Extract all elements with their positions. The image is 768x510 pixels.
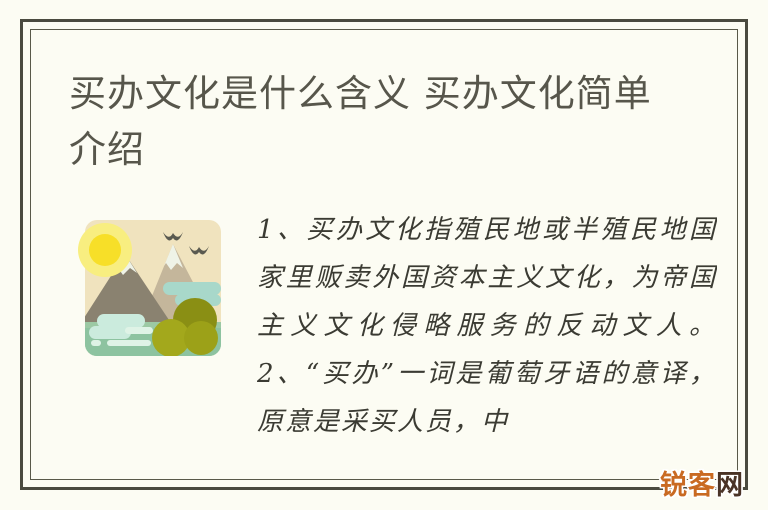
site-watermark: 锐客网 [660, 463, 744, 502]
page-title: 买办文化是什么含义 买办文化简单介绍 [69, 66, 689, 178]
bush-right [184, 321, 218, 355]
article-content-row: 1、买办文化指殖民地或半殖民地国家里贩卖外国资本主义文化，为帝国主义文化侵略服务… [67, 206, 717, 446]
watermark-main: 锐客 [660, 470, 716, 501]
watermark-last: 网 [716, 470, 744, 501]
article-card: 买办文化是什么含义 买办文化简单介绍 [20, 19, 748, 490]
sun-core [89, 234, 121, 266]
article-body-text: 1、买办文化指殖民地或半殖民地国家里贩卖外国资本主义文化，为帝国主义文化侵略服务… [257, 206, 717, 446]
article-card-inner-border: 买办文化是什么含义 买办文化简单介绍 [30, 29, 738, 480]
mountain-landscape-illustration [67, 210, 227, 370]
